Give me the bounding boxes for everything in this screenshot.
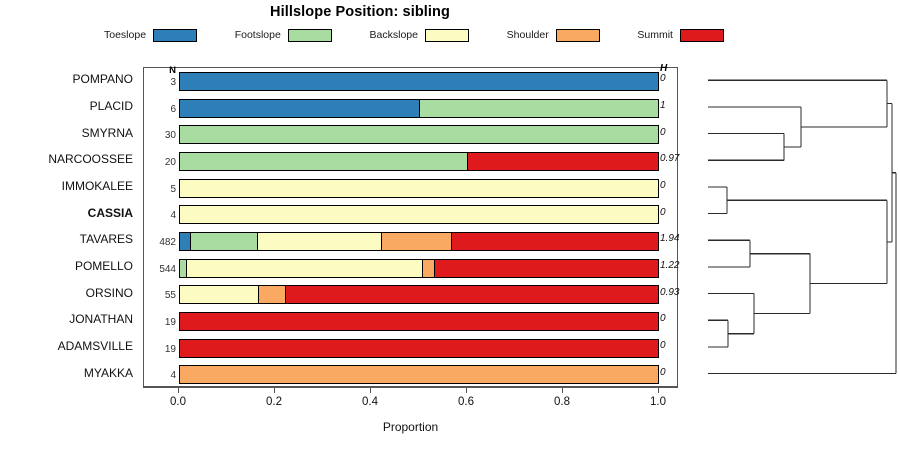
legend-item-toeslope: Toeslope bbox=[104, 29, 197, 42]
legend-label-toeslope: Toeslope bbox=[104, 29, 146, 41]
y-axis-label-jonathan: JONATHAN bbox=[0, 312, 133, 326]
stacked-bar[interactable] bbox=[179, 339, 659, 358]
chart-row: 3 bbox=[144, 68, 677, 95]
bar-segment-backslope[interactable] bbox=[180, 180, 658, 197]
bar-segment-summit[interactable] bbox=[180, 313, 658, 330]
legend-label-shoulder: Shoulder bbox=[507, 29, 549, 41]
chart-row: 6 bbox=[144, 95, 677, 122]
legend-swatch-footslope bbox=[288, 29, 332, 42]
stacked-bar[interactable] bbox=[179, 205, 659, 224]
row-n-value: 19 bbox=[144, 317, 176, 328]
bar-segment-summit[interactable] bbox=[180, 340, 658, 357]
legend-swatch-shoulder bbox=[556, 29, 600, 42]
legend-item-summit: Summit bbox=[637, 29, 724, 42]
bar-segment-summit[interactable] bbox=[451, 233, 658, 250]
x-axis-tick bbox=[178, 387, 179, 393]
x-axis-line bbox=[143, 387, 678, 388]
row-n-value: 482 bbox=[144, 237, 176, 248]
row-n-value: 19 bbox=[144, 344, 176, 355]
bar-segment-toeslope[interactable] bbox=[180, 233, 190, 250]
plot-area: 363020544825445519194 N bbox=[143, 67, 678, 387]
stacked-bar[interactable] bbox=[179, 179, 659, 198]
legend-item-shoulder: Shoulder bbox=[507, 29, 600, 42]
legend-item-footslope: Footslope bbox=[235, 29, 332, 42]
bar-segment-backslope[interactable] bbox=[180, 206, 658, 223]
row-n-value: 4 bbox=[144, 370, 176, 381]
row-n-value: 20 bbox=[144, 157, 176, 168]
y-axis-label-pompano: POMPANO bbox=[0, 72, 133, 86]
chart-row: 5 bbox=[144, 175, 677, 202]
chart-row: 4 bbox=[144, 201, 677, 228]
legend-swatch-toeslope bbox=[153, 29, 197, 42]
chart-row: 20 bbox=[144, 148, 677, 175]
bar-segment-footslope[interactable] bbox=[180, 153, 467, 170]
row-n-value: 544 bbox=[144, 264, 176, 275]
y-axis-label-adamsville: ADAMSVILLE bbox=[0, 339, 133, 353]
y-axis-label-placid: PLACID bbox=[0, 99, 133, 113]
stacked-bar[interactable] bbox=[179, 152, 659, 171]
y-axis-label-smyrna: SMYRNA bbox=[0, 126, 133, 140]
bar-segment-shoulder[interactable] bbox=[258, 286, 284, 303]
bar-segment-footslope[interactable] bbox=[180, 126, 658, 143]
bar-segment-summit[interactable] bbox=[434, 260, 658, 277]
legend-label-footslope: Footslope bbox=[235, 29, 281, 41]
dendrogram bbox=[700, 60, 900, 400]
x-axis-tick bbox=[658, 387, 659, 393]
bar-rows: 363020544825445519194 bbox=[144, 68, 677, 386]
row-n-value: 30 bbox=[144, 130, 176, 141]
x-axis-tick-label: 0.4 bbox=[345, 396, 395, 408]
x-axis-tick-label: 0.0 bbox=[153, 396, 203, 408]
chart-row: 544 bbox=[144, 255, 677, 282]
y-axis-label-pomello: POMELLO bbox=[0, 259, 133, 273]
x-axis-tick bbox=[562, 387, 563, 393]
dendrogram-svg bbox=[700, 60, 900, 400]
chart-row: 4 bbox=[144, 361, 677, 388]
row-n-value: 55 bbox=[144, 290, 176, 301]
stacked-bar[interactable] bbox=[179, 72, 659, 91]
bar-segment-shoulder[interactable] bbox=[422, 260, 434, 277]
x-axis: Proportion 0.00.20.40.60.81.0 bbox=[143, 387, 678, 437]
bar-segment-backslope[interactable] bbox=[257, 233, 381, 250]
y-axis-label-myakka: MYAKKA bbox=[0, 366, 133, 380]
bar-segment-backslope[interactable] bbox=[186, 260, 422, 277]
y-axis-label-narcoossee: NARCOOSSEE bbox=[0, 152, 133, 166]
row-n-value: 6 bbox=[144, 104, 176, 115]
stacked-bar[interactable] bbox=[179, 125, 659, 144]
legend: ToeslopeFootslopeBackslopeShoulderSummit bbox=[104, 26, 724, 44]
chart-row: 19 bbox=[144, 335, 677, 362]
x-axis-tick bbox=[274, 387, 275, 393]
stacked-bar[interactable] bbox=[179, 285, 659, 304]
y-axis-label-cassia: CASSIA bbox=[0, 206, 133, 220]
stacked-bar[interactable] bbox=[179, 365, 659, 384]
legend-label-summit: Summit bbox=[637, 29, 673, 41]
legend-item-backslope: Backslope bbox=[370, 29, 469, 42]
row-n-value: 4 bbox=[144, 210, 176, 221]
chart-row: 482 bbox=[144, 228, 677, 255]
y-axis-label-orsino: ORSINO bbox=[0, 286, 133, 300]
bar-segment-summit[interactable] bbox=[285, 286, 658, 303]
bar-segment-toeslope[interactable] bbox=[180, 100, 419, 117]
chart-row: 30 bbox=[144, 121, 677, 148]
stacked-bar[interactable] bbox=[179, 312, 659, 331]
stacked-bar[interactable] bbox=[179, 232, 659, 251]
row-n-value: 3 bbox=[144, 77, 176, 88]
y-axis-label-tavares: TAVARES bbox=[0, 232, 133, 246]
page-title: Hillslope Position: sibling bbox=[0, 4, 720, 20]
stacked-bar[interactable] bbox=[179, 259, 659, 278]
bar-segment-footslope[interactable] bbox=[190, 233, 257, 250]
bar-segment-toeslope[interactable] bbox=[180, 73, 658, 90]
y-axis-labels: POMPANOPLACIDSMYRNANARCOOSSEEIMMOKALEECA… bbox=[0, 67, 138, 387]
x-axis-tick-label: 0.6 bbox=[441, 396, 491, 408]
x-axis-tick bbox=[370, 387, 371, 393]
bar-segment-shoulder[interactable] bbox=[180, 366, 658, 383]
y-axis-label-immokalee: IMMOKALEE bbox=[0, 179, 133, 193]
chart-row: 19 bbox=[144, 308, 677, 335]
bar-segment-footslope[interactable] bbox=[419, 100, 658, 117]
chart-row: 55 bbox=[144, 281, 677, 308]
bar-segment-shoulder[interactable] bbox=[381, 233, 451, 250]
x-axis-title: Proportion bbox=[143, 420, 678, 434]
x-axis-tick bbox=[466, 387, 467, 393]
legend-label-backslope: Backslope bbox=[370, 29, 418, 41]
x-axis-tick-label: 1.0 bbox=[633, 396, 683, 408]
n-column-header: N bbox=[144, 65, 176, 76]
x-axis-tick-label: 0.2 bbox=[249, 396, 299, 408]
legend-swatch-backslope bbox=[425, 29, 469, 42]
stacked-bar[interactable] bbox=[179, 99, 659, 118]
bar-segment-backslope[interactable] bbox=[180, 286, 258, 303]
bar-segment-summit[interactable] bbox=[467, 153, 658, 170]
chart-root: Hillslope Position: sibling ToeslopeFoot… bbox=[0, 0, 900, 460]
x-axis-tick-label: 0.8 bbox=[537, 396, 587, 408]
legend-swatch-summit bbox=[680, 29, 724, 42]
row-n-value: 5 bbox=[144, 184, 176, 195]
